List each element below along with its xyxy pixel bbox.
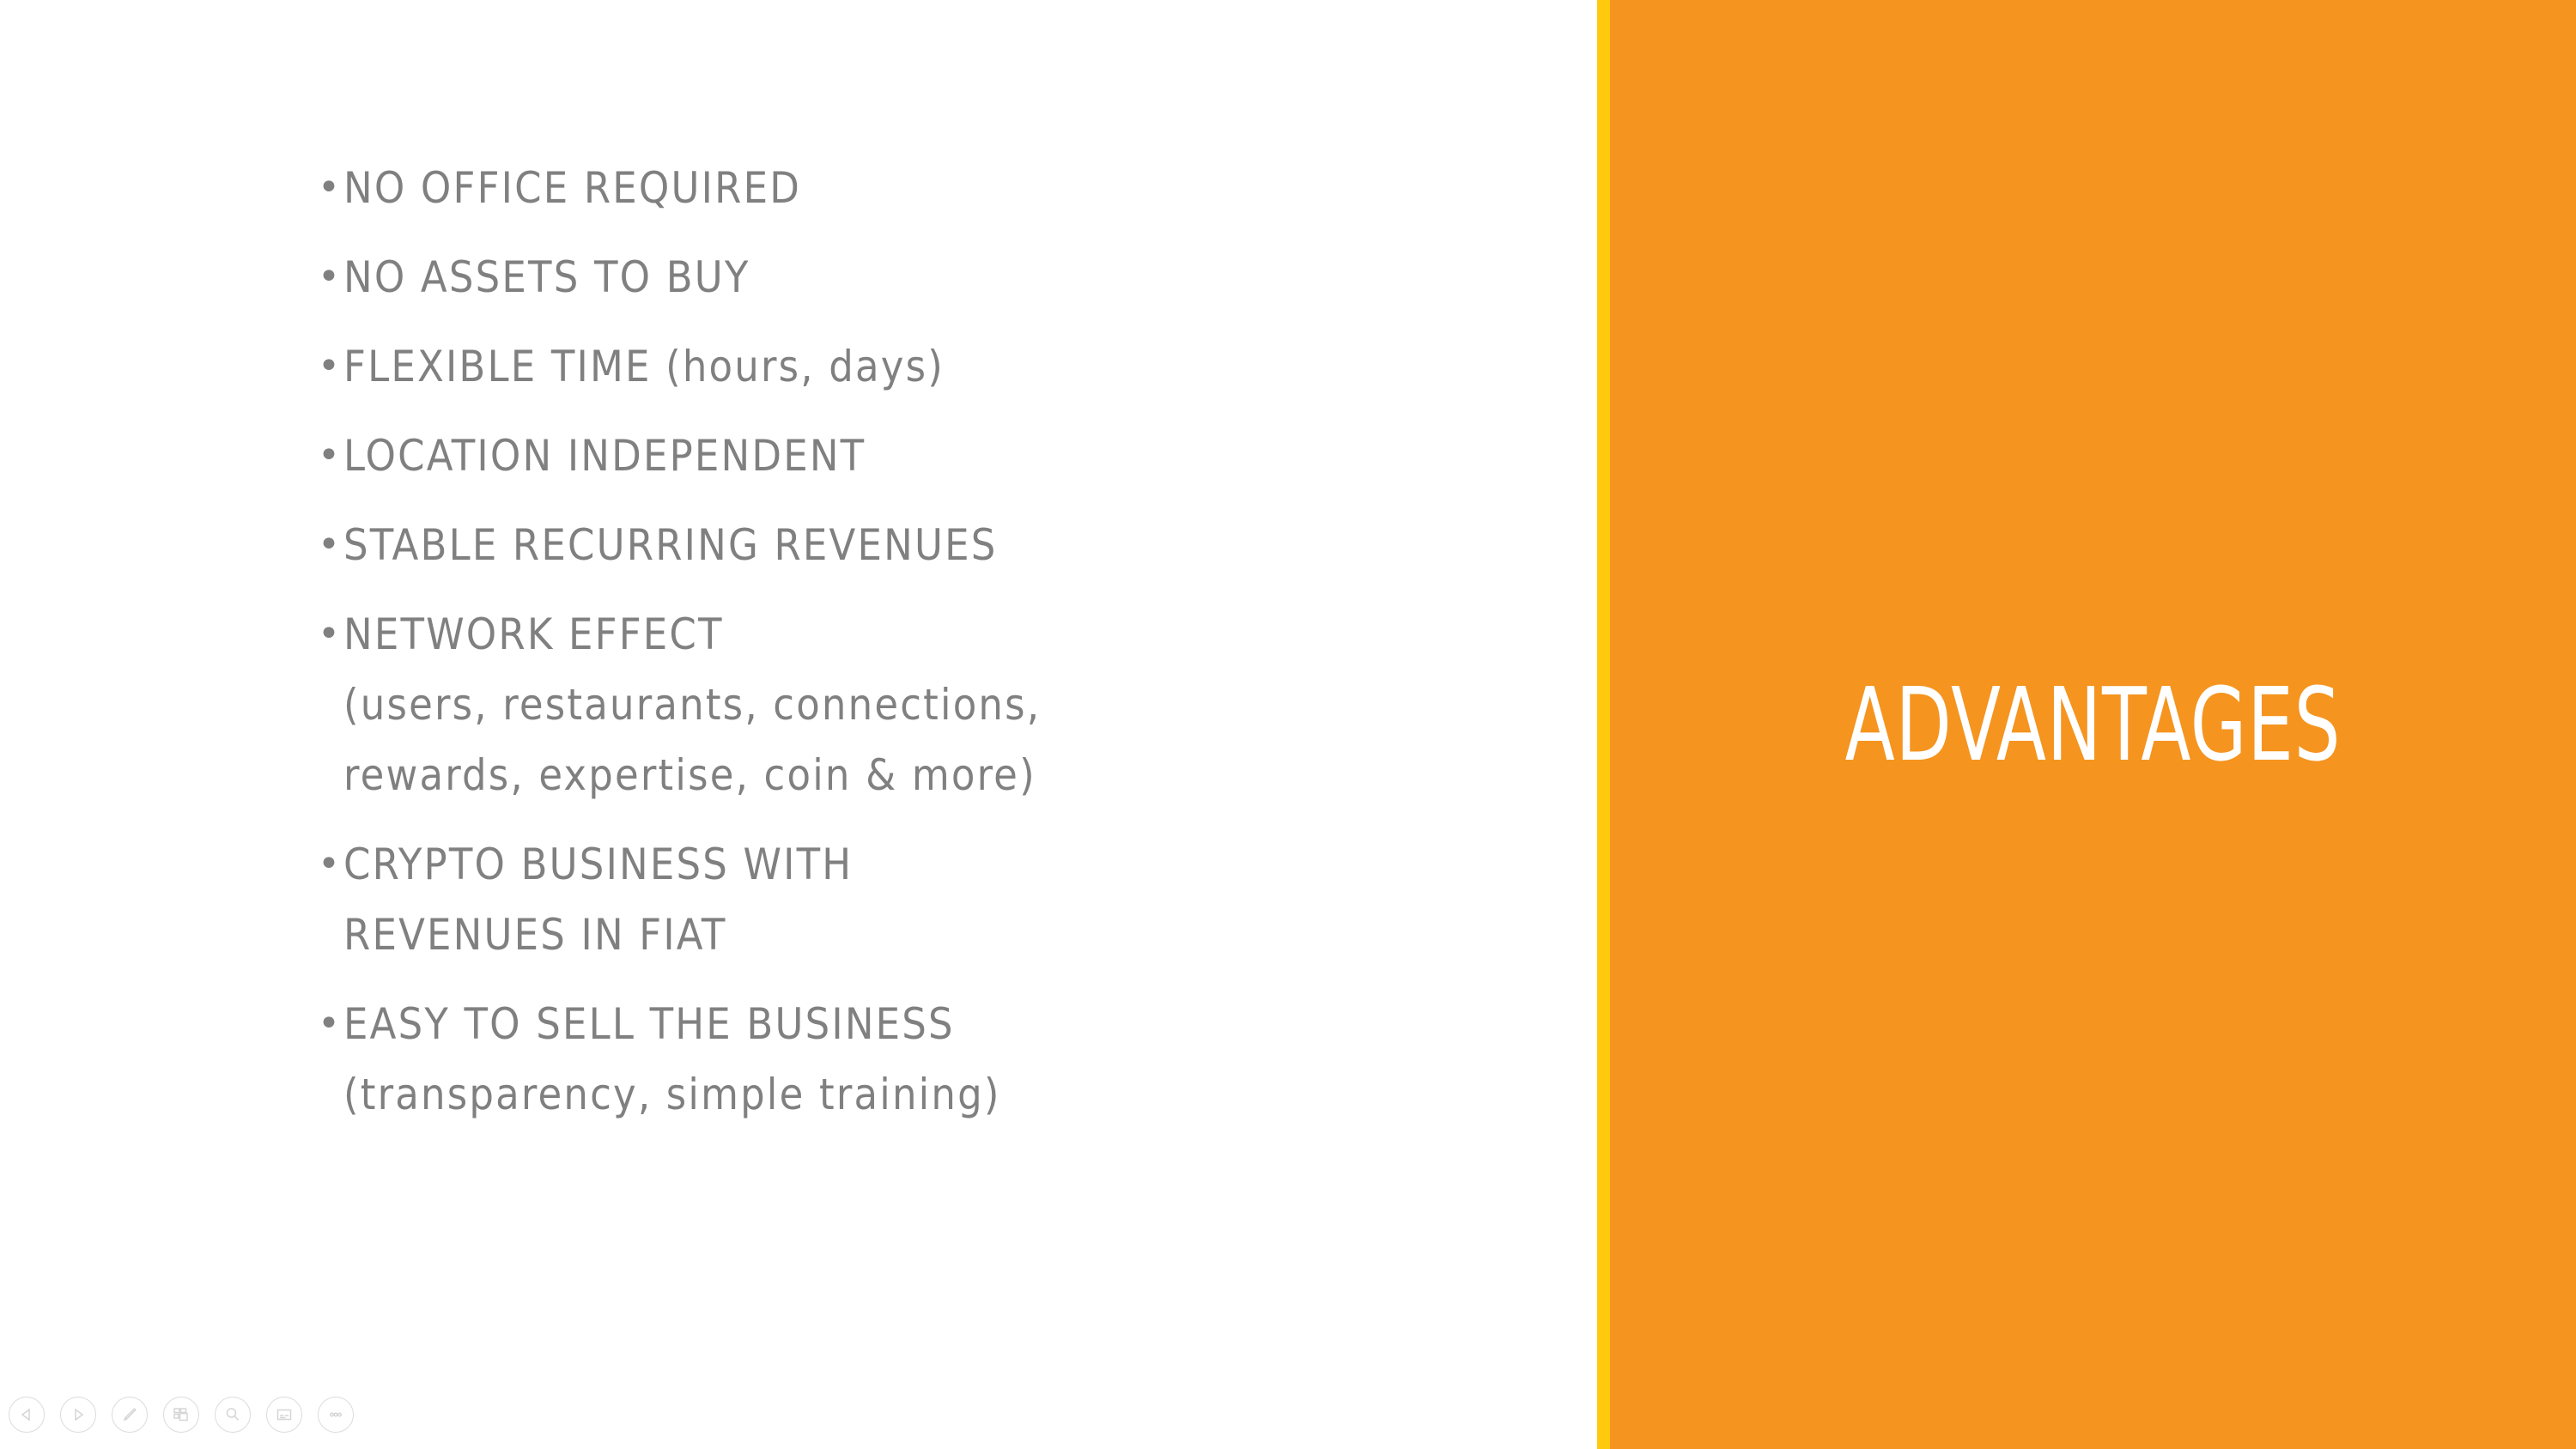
list-item: • EASY TO SELL THE BUSINESS (transparenc… xyxy=(309,989,1528,1130)
accent-stripe xyxy=(1597,0,1610,1449)
bullet-marker: • xyxy=(309,421,343,491)
bullet-marker: • xyxy=(309,242,343,312)
list-item-label: CRYPTO BUSINESS WITH REVENUES IN FIAT xyxy=(343,829,1528,970)
bullet-marker: • xyxy=(309,510,343,580)
bullet-marker: • xyxy=(309,829,343,900)
bullet-marker: • xyxy=(309,989,343,1059)
pen-tool-button[interactable] xyxy=(112,1397,148,1433)
all-slides-button[interactable] xyxy=(163,1397,199,1433)
presenter-toolbar xyxy=(9,1389,354,1440)
zoom-button[interactable] xyxy=(215,1397,251,1433)
presentation-slide: ADVANTAGES • NO OFFICE REQUIRED • NO ASS… xyxy=(0,0,2576,1449)
list-item: • LOCATION INDEPENDENT xyxy=(309,421,1528,491)
previous-icon xyxy=(18,1406,35,1423)
list-item-label: FLEXIBLE TIME (hours, days) xyxy=(343,331,1528,402)
bullet-list: • NO OFFICE REQUIRED • NO ASSETS TO BUY … xyxy=(309,153,1528,1149)
page-title: ADVANTAGES xyxy=(1707,0,2480,1449)
bullet-marker: • xyxy=(309,331,343,402)
bullet-marker: • xyxy=(309,153,343,223)
list-item-label: STABLE RECURRING REVENUES xyxy=(343,510,1528,580)
next-slide-button[interactable] xyxy=(60,1397,96,1433)
ellipsis-icon xyxy=(326,1405,345,1424)
list-item-label: LOCATION INDEPENDENT xyxy=(343,421,1528,491)
slides-grid-icon xyxy=(172,1405,191,1424)
subtitles-button[interactable] xyxy=(266,1397,302,1433)
list-item-label: NETWORK EFFECT (users, restaurants, conn… xyxy=(343,599,1528,810)
magnifier-icon xyxy=(223,1405,242,1424)
pen-icon xyxy=(120,1405,139,1424)
list-item: • NO ASSETS TO BUY xyxy=(309,242,1528,312)
next-icon xyxy=(70,1406,87,1423)
list-item-label: EASY TO SELL THE BUSINESS (transparency,… xyxy=(343,989,1528,1130)
captions-icon xyxy=(275,1405,294,1424)
more-options-button[interactable] xyxy=(318,1397,354,1433)
list-item: • NO OFFICE REQUIRED xyxy=(309,153,1528,223)
list-item-label: NO OFFICE REQUIRED xyxy=(343,153,1528,223)
list-item-label: NO ASSETS TO BUY xyxy=(343,242,1528,312)
bullet-marker: • xyxy=(309,599,343,670)
list-item: • CRYPTO BUSINESS WITH REVENUES IN FIAT xyxy=(309,829,1528,970)
list-item: • FLEXIBLE TIME (hours, days) xyxy=(309,331,1528,402)
previous-slide-button[interactable] xyxy=(9,1397,45,1433)
list-item: • NETWORK EFFECT (users, restaurants, co… xyxy=(309,599,1528,810)
list-item: • STABLE RECURRING REVENUES xyxy=(309,510,1528,580)
